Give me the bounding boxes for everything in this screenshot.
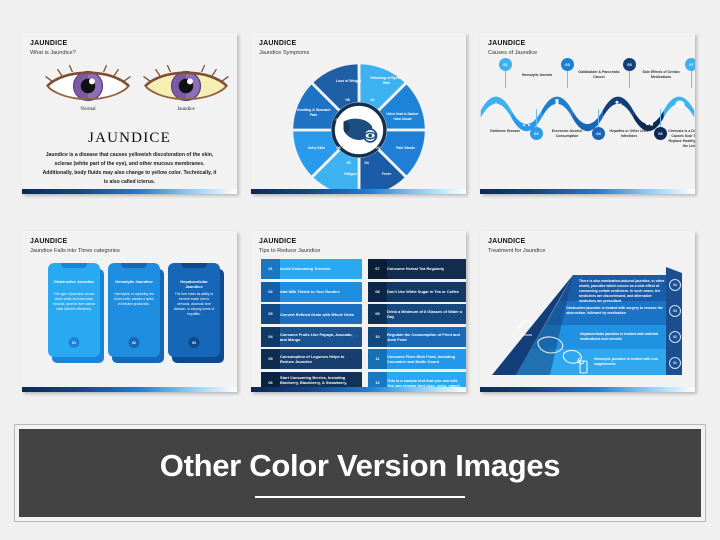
wheel-num-04: 04 xyxy=(365,161,369,165)
slide-accent-bar xyxy=(22,189,237,194)
wheel-label-07: Vomiting & Stomach Pain xyxy=(294,108,334,117)
jaundice-description: Jaundice is a disease that causes yellow… xyxy=(42,151,217,187)
tip-text: Consumption of Legumes Helps to Reduce J… xyxy=(280,354,362,365)
tip-number: 03 xyxy=(261,304,280,324)
tip-icon-box: 06 xyxy=(261,372,280,392)
banner-title: Other Color Version Images xyxy=(160,448,560,484)
card-heading: Obstructive Jaundice xyxy=(52,279,96,284)
cause-node-07[interactable]: 07 xyxy=(685,58,695,71)
jaundice-headline: JAUNDICE xyxy=(22,130,237,147)
tip-number: 08 xyxy=(368,282,387,302)
card-notch xyxy=(181,263,207,268)
tip-item[interactable]: 03 Convert Refined Grain with Whole Grai… xyxy=(261,304,362,324)
wheel-num-07: 07 xyxy=(336,118,340,122)
tip-item[interactable]: 05 Consumption of Legumes Helps to Reduc… xyxy=(261,349,362,369)
slide-jaundice-symptoms[interactable]: JAUNDICE Jaundice Symptoms xyxy=(251,33,466,194)
slide-subtitle: Jaundice Symptoms xyxy=(259,50,309,56)
category-card-02[interactable]: Hemolytic Jaundice Hemolysis, or rupturi… xyxy=(108,263,160,363)
wheel-label-01: Yellowing of Eyes & Skin xyxy=(367,76,407,85)
tip-icon-box: 10 xyxy=(368,327,387,347)
slide-accent-bar xyxy=(480,387,695,392)
cause-node-06[interactable]: 06 xyxy=(654,127,667,140)
treatment-text-04: There is also medication-induced jaundic… xyxy=(575,276,670,304)
slide-content: JAUNDICE Jaundice Falls into Three categ… xyxy=(22,231,237,387)
tip-number: 07 xyxy=(368,259,387,279)
tip-item[interactable]: 09 Drink a Minimum of 8 Glasses of Water… xyxy=(368,304,466,324)
symptoms-wheel: Yellowing of Eyes & Skin 01 Urine that i… xyxy=(289,60,429,194)
tip-icon-box: 09 xyxy=(368,304,387,324)
slide-tips-to-reduce-jaundice[interactable]: JAUNDICE Tips to Reduce Jaundice 01 Avoi… xyxy=(251,231,466,392)
slide-accent-bar xyxy=(22,387,237,392)
tips-column-left: 01 Avoid Consuming Turmeric 02 Add Milk … xyxy=(261,259,362,392)
slide-title: JAUNDICE xyxy=(488,40,525,47)
slide-three-categories[interactable]: JAUNDICE Jaundice Falls into Three categ… xyxy=(22,231,237,392)
card-body: Hemolytic Jaundice Hemolysis, or rupturi… xyxy=(108,263,160,357)
tip-number: 09 xyxy=(368,304,387,324)
tip-icon-box: 01 xyxy=(261,259,280,279)
card-heading: Hepatocellular Jaundice xyxy=(172,279,216,289)
card-text: The liver loses its ability to excrete w… xyxy=(173,292,215,317)
slide-causes-of-jaundice[interactable]: JAUNDICE Causes of Jaundice xyxy=(480,33,695,194)
tip-text: Add Milk Thistle to Your Routine xyxy=(280,289,362,294)
cause-stem-02 xyxy=(536,109,537,129)
tip-number: 06 xyxy=(261,372,280,392)
tip-item[interactable]: 04 Consume Fruits Like Papaya, Avocado, … xyxy=(261,327,362,347)
eye-label-normal: Normal xyxy=(42,107,134,112)
tip-text: Regulate the Consumption of Fried and Ju… xyxy=(387,332,466,343)
tip-text: Convert Refined Grain with Whole Grain xyxy=(280,312,362,317)
cause-node-02[interactable]: 02 xyxy=(530,127,543,140)
other-color-version-banner: Other Color Version Images xyxy=(14,424,706,522)
tip-icon-box: 04 xyxy=(261,327,280,347)
treatment-node-01[interactable]: 01 xyxy=(669,357,681,369)
cause-label-04: Gallbladder & Pancreatic Cancer xyxy=(576,70,622,80)
causes-wave-diagram: 01 Gallstone Disease 02 Hemolytic Anemia… xyxy=(480,61,695,186)
tip-item[interactable]: 07 Consume Herbal Tea Regularly xyxy=(368,259,466,279)
tip-item[interactable]: 10 Regulate the Consumption of Fried and… xyxy=(368,327,466,347)
tip-item[interactable]: 01 Avoid Consuming Turmeric xyxy=(261,259,362,279)
banner-body: Other Color Version Images xyxy=(19,429,701,517)
wheel-label-08: Loss of Weight xyxy=(329,79,369,84)
treatment-text-03: Obstructive jaundice is treated with sur… xyxy=(562,303,670,316)
tip-number: 11 xyxy=(368,349,387,369)
jaundice-eye-icon xyxy=(140,63,232,109)
slide-title: JAUNDICE xyxy=(259,238,296,245)
tip-text: Consume Herbal Tea Regularly xyxy=(387,266,466,271)
cause-stem-06 xyxy=(660,109,661,129)
cause-label-03: Excessive Alcohol Consumption xyxy=(544,129,590,139)
card-text: This type of jaundice occurs when a bile… xyxy=(53,292,95,312)
slide-accent-bar xyxy=(251,189,466,194)
tip-number: 10 xyxy=(368,327,387,347)
treatment-text-02: Hepatocellular jaundice is treated with … xyxy=(576,329,670,342)
tips-column-right: 07 Consume Herbal Tea Regularly 08 Don't… xyxy=(368,259,466,392)
wheel-label-04: Fever xyxy=(367,172,407,177)
slide-content: JAUNDICE Jaundice Symptoms xyxy=(251,33,466,189)
card-badge: 03 xyxy=(189,337,200,348)
slide-content: JAUNDICE Causes of Jaundice xyxy=(480,33,695,189)
cause-stem-04 xyxy=(598,109,599,129)
slide-what-is-jaundice[interactable]: JAUNDICE What is Jaundice? xyxy=(22,33,237,194)
cause-node-05[interactable]: 05 xyxy=(623,58,636,71)
banner-divider xyxy=(255,496,465,498)
wheel-num-02: 02 xyxy=(377,118,381,122)
tip-item[interactable]: 11 Consume Fiber-Rich Food, Including Cu… xyxy=(368,349,466,369)
slide-subtitle: Treatment for Jaundice xyxy=(488,248,545,254)
card-notch xyxy=(121,263,147,268)
treatment-node-04[interactable]: 04 xyxy=(669,279,681,291)
presentation-preview-page: JAUNDICE What is Jaundice? xyxy=(0,0,720,540)
eye-label-jaundice: Jaundice xyxy=(140,107,232,112)
tip-icon-box: 05 xyxy=(261,349,280,369)
wheel-num-03: 03 xyxy=(376,146,380,150)
slide-title: JAUNDICE xyxy=(30,238,67,245)
cause-label-01: Gallstone Disease xyxy=(482,129,528,134)
tip-item[interactable]: 02 Add Milk Thistle to Your Routine xyxy=(261,282,362,302)
tip-number: 05 xyxy=(261,349,280,369)
cause-node-01[interactable]: 01 xyxy=(499,58,512,71)
wheel-num-06: 06 xyxy=(337,146,341,150)
tip-icon-box: 02 xyxy=(261,282,280,302)
slide-subtitle: Jaundice Falls into Three categories xyxy=(30,248,120,254)
slide-title: JAUNDICE xyxy=(30,40,67,47)
slide-treatment-for-jaundice[interactable]: JAUNDICE Treatment for Jaundice xyxy=(480,231,695,392)
tip-text: Drink a Minimum of 8 Glasses of Water a … xyxy=(387,309,466,320)
slide-content: JAUNDICE What is Jaundice? xyxy=(22,33,237,189)
cause-label-06: Side Effects of Certain Medications xyxy=(638,70,684,80)
tip-text: Avoid Consuming Turmeric xyxy=(280,266,362,271)
category-cards: Obstructive Jaundice This type of jaundi… xyxy=(22,263,237,381)
wheel-label-03: Pale Stools xyxy=(386,146,426,151)
card-body: Hepatocellular Jaundice The liver loses … xyxy=(168,263,220,357)
tip-number: 01 xyxy=(261,259,280,279)
treatment-text-01: Hemolytic jaundice is treated with iron … xyxy=(590,354,670,367)
wheel-num-05: 05 xyxy=(347,161,351,165)
slide-subtitle: Causes of Jaundice xyxy=(488,50,537,56)
card-badge: 01 xyxy=(69,337,80,348)
causes-wave-graphic xyxy=(480,89,695,150)
cause-label-05: Hepatitis or Other Liver Infections xyxy=(606,129,652,139)
slide-accent-bar xyxy=(480,189,695,194)
card-notch xyxy=(61,263,87,268)
slide-subtitle: What is Jaundice? xyxy=(30,50,76,56)
slide-title: JAUNDICE xyxy=(259,40,296,47)
cause-label-07: Cirrhosis is a Disease that Causes Scar … xyxy=(667,129,695,149)
card-text: Hemolysis, or rupturing red blood cells,… xyxy=(113,292,155,307)
tip-text: Consume Fruits Like Papaya, Avocado, and… xyxy=(280,332,362,343)
slide-content: JAUNDICE Treatment for Jaundice xyxy=(480,231,695,387)
tip-icon-box: 12 xyxy=(368,372,387,392)
tip-icon-box: 07 xyxy=(368,259,387,279)
tip-item[interactable]: 08 Don't Use White Sugar in Tea or Coffe… xyxy=(368,282,466,302)
tip-number: 12 xyxy=(368,372,387,392)
cause-node-03[interactable]: 03 xyxy=(561,58,574,71)
wheel-label-02: Urine that is Darker than Usual xyxy=(383,112,423,121)
cause-label-02: Hemolytic Anemia xyxy=(514,73,560,78)
slide-title: JAUNDICE xyxy=(488,238,525,245)
treatment-node-02[interactable]: 02 xyxy=(669,331,681,343)
category-card-01[interactable]: Obstructive Jaundice This type of jaundi… xyxy=(48,263,100,363)
wheel-label-05: Fatigue xyxy=(331,172,371,177)
tip-number: 02 xyxy=(261,282,280,302)
tip-text: Consume Fiber-Rich Food, Including Cucum… xyxy=(387,354,466,365)
treatment-pyramid: There is also medication-induced jaundic… xyxy=(480,257,695,383)
slide-content: JAUNDICE Tips to Reduce Jaundice 01 Avoi… xyxy=(251,231,466,387)
wheel-num-08: 08 xyxy=(346,98,350,102)
normal-eye-icon xyxy=(42,63,134,109)
tip-text: Don't Use White Sugar in Tea or Coffee xyxy=(387,289,466,294)
wheel-label-06: Itchy Skin xyxy=(297,146,337,151)
category-card-03[interactable]: Hepatocellular Jaundice The liver loses … xyxy=(168,263,220,363)
wheel-num-01: 01 xyxy=(371,98,375,102)
card-heading: Hemolytic Jaundice xyxy=(112,279,156,284)
tip-number: 04 xyxy=(261,327,280,347)
slide-subtitle: Tips to Reduce Jaundice xyxy=(259,248,320,254)
tip-icon-box: 08 xyxy=(368,282,387,302)
treatment-node-03[interactable]: 03 xyxy=(669,305,681,317)
slide-accent-bar xyxy=(251,387,466,392)
eye-comparison-illustration: Normal Jaundice xyxy=(22,63,237,121)
card-badge: 02 xyxy=(129,337,140,348)
tip-icon-box: 03 xyxy=(261,304,280,324)
card-body: Obstructive Jaundice This type of jaundi… xyxy=(48,263,100,357)
tip-icon-box: 11 xyxy=(368,349,387,369)
cause-node-04[interactable]: 04 xyxy=(592,127,605,140)
